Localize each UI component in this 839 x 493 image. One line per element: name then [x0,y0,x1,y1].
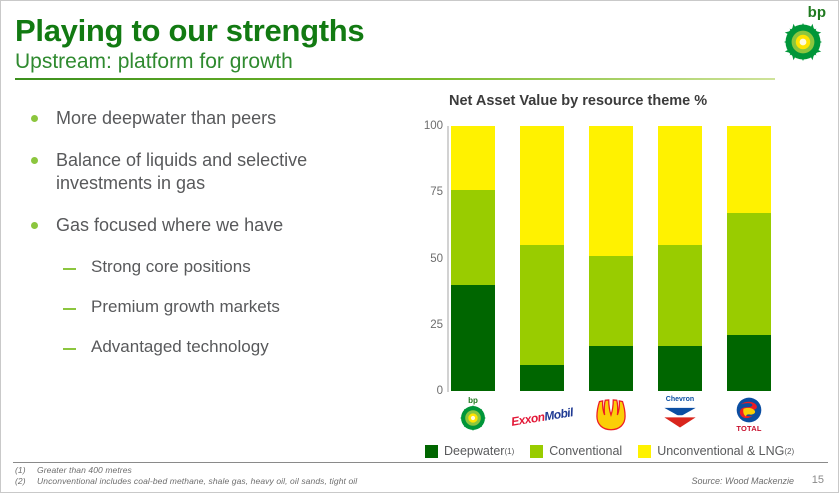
chevron-hallmark-icon [663,405,697,429]
bar-group [451,126,771,391]
legend-swatch-icon [638,445,651,458]
page-title: Playing to our strengths [15,15,364,46]
bar-segment-deepwater[interactable] [451,285,495,391]
y-tick-label: 100 [409,120,443,132]
bar-bp[interactable] [451,126,495,391]
y-tick-label: 75 [409,186,443,198]
footnote-2-marker: (2) [15,476,37,486]
title-divider [15,78,775,80]
bp-logo: bp [770,5,828,61]
mobil-text: Mobil [543,405,574,423]
bullet-list: More deepwater than peers Balance of liq… [19,107,399,375]
bar-total[interactable] [727,126,771,391]
x-logo-bp: bp [451,396,495,436]
x-axis-logos: bp ExxonMobil [451,395,771,437]
total-globe-icon [735,396,763,424]
bar-segment-deepwater[interactable] [589,346,633,391]
exxonmobil-wordmark: ExxonMobil [510,405,574,429]
bar-segment-unconventional-lng[interactable] [727,126,771,213]
bp-label: bp [468,396,478,405]
slide: Playing to our strengths Upstream: platf… [0,0,839,493]
source-text: Source: Wood Mackenzie [691,476,794,486]
y-axis-line [447,126,449,392]
bar-segment-unconventional-lng[interactable] [658,126,702,245]
x-logo-chevron: Chevron [658,396,702,436]
chart: Net Asset Value by resource theme % 0255… [405,93,830,443]
bar-segment-deepwater[interactable] [658,346,702,391]
legend-label: Conventional [549,444,622,458]
footnote-1-text: Greater than 400 metres [37,465,132,475]
list-item: More deepwater than peers [19,107,399,130]
footer-divider [13,462,828,463]
chart-title: Net Asset Value by resource theme % [449,93,707,109]
bp-wordmark: bp [808,5,826,20]
dash-icon [63,308,76,310]
y-tick-label: 25 [409,319,443,331]
page-number: 15 [812,474,824,486]
bar-shell[interactable] [589,126,633,391]
dash-icon [63,348,76,350]
legend-footnote-marker: (1) [504,447,514,456]
legend-label: Unconventional & LNG [657,444,784,458]
bp-helios-icon [784,23,822,61]
legend-item-deepwater[interactable]: Deepwater(1) [425,444,514,458]
legend-label: Deepwater [444,444,504,458]
bar-segment-deepwater[interactable] [520,365,564,392]
x-logo-total: TOTAL [727,396,771,436]
bullet-text: Gas focused where we have [56,214,283,237]
bar-segment-conventional[interactable] [451,190,495,285]
chevron-wordmark: Chevron [666,396,694,403]
bar-segment-unconventional-lng[interactable] [589,126,633,256]
footnote-1: (1)Greater than 400 metres [15,465,132,475]
bullet-dot-icon [31,157,38,164]
footnote-1-marker: (1) [15,465,37,475]
footnote-2: (2)Unconventional includes coal-bed meth… [15,476,357,486]
bp-helios-icon [460,405,486,431]
shell-pecten-icon [594,399,628,431]
y-tick-label: 50 [409,253,443,265]
footnote-2-text: Unconventional includes coal-bed methane… [37,476,357,486]
bar-segment-conventional[interactable] [589,256,633,346]
bar-segment-deepwater[interactable] [727,335,771,391]
bar-chevron[interactable] [658,126,702,391]
legend-swatch-icon [530,445,543,458]
list-item: Balance of liquids and selective investm… [19,149,399,195]
list-item: Gas focused where we have [19,214,399,237]
legend-item-conventional[interactable]: Conventional [530,444,622,458]
sub-list-item: Advantaged technology [19,336,399,358]
y-tick-label: 0 [409,385,443,397]
chart-legend: Deepwater(1)ConventionalUnconventional &… [425,444,810,458]
bar-segment-unconventional-lng[interactable] [520,126,564,245]
bullet-text: More deepwater than peers [56,107,276,130]
total-wordmark: TOTAL [736,424,761,433]
sub-bullet-text: Advantaged technology [91,336,269,358]
sub-list-item: Premium growth markets [19,296,399,318]
bar-segment-conventional[interactable] [658,245,702,346]
sub-list-item: Strong core positions [19,256,399,278]
bullet-dot-icon [31,115,38,122]
sub-bullet-text: Strong core positions [91,256,251,278]
bar-segment-conventional[interactable] [727,213,771,335]
x-logo-exxonmobil: ExxonMobil [520,396,564,436]
bar-segment-conventional[interactable] [520,245,564,364]
sub-bullet-text: Premium growth markets [91,296,280,318]
legend-footnote-marker: (2) [784,447,794,456]
page-subtitle: Upstream: platform for growth [15,51,293,72]
legend-item-unconventional[interactable]: Unconventional & LNG(2) [638,444,794,458]
x-logo-shell [589,396,633,436]
exxon-text: Exxon [510,410,545,429]
bullet-text: Balance of liquids and selective investm… [56,149,399,195]
legend-swatch-icon [425,445,438,458]
y-axis-labels: 0255075100 [405,126,443,391]
bullet-dot-icon [31,222,38,229]
bar-segment-unconventional-lng[interactable] [451,126,495,190]
dash-icon [63,268,76,270]
bar-exxonmobil[interactable] [520,126,564,391]
